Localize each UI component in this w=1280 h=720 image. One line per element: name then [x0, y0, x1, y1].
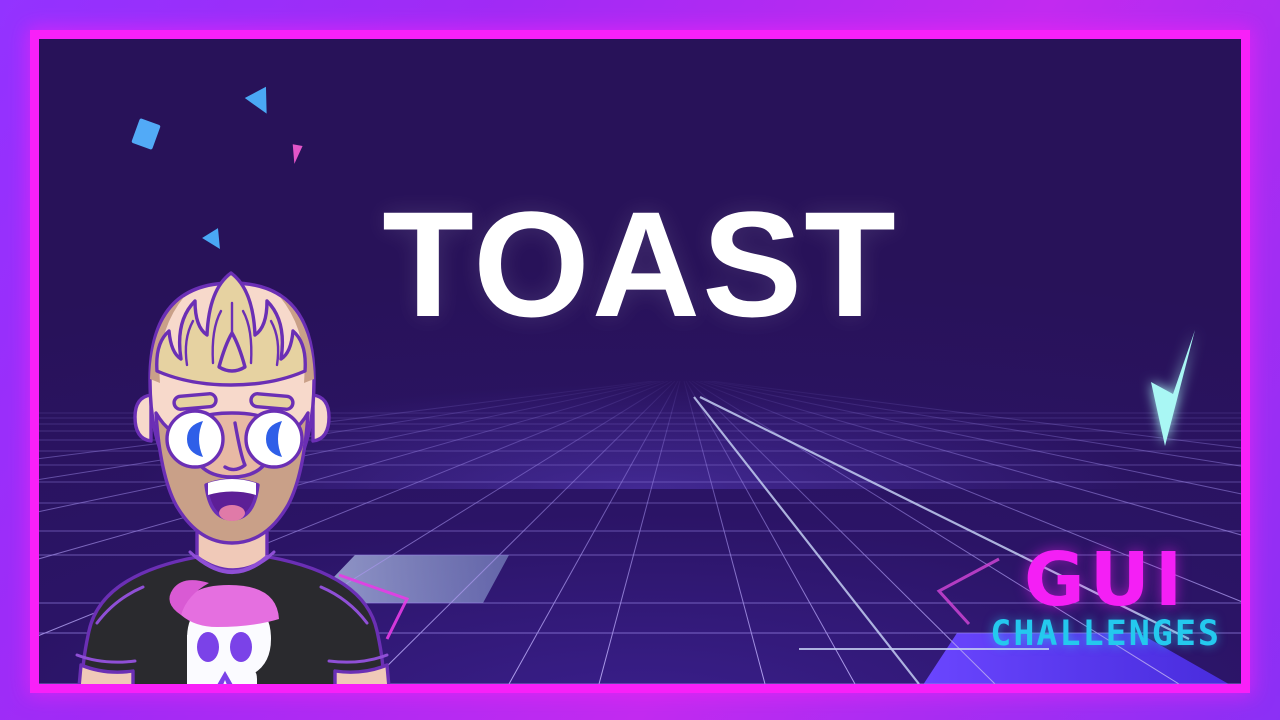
avatar-tongue: [219, 505, 245, 521]
brand-gui-text: GUI: [990, 546, 1221, 614]
skull-eye-right: [230, 632, 252, 662]
avatar-eyebrow-right: [250, 393, 293, 410]
avatar-ear-left: [135, 395, 151, 441]
scene: TOAST GUI CHALLENGES: [39, 39, 1241, 684]
avatar-eyebrow-left: [174, 393, 217, 410]
thumbnail-root: TOAST GUI CHALLENGES: [0, 0, 1280, 720]
neon-frame: TOAST GUI CHALLENGES: [30, 30, 1250, 693]
avatar: [69, 267, 399, 684]
brand-lockup: GUI CHALLENGES: [990, 546, 1221, 652]
cyan-shard-icon: [1139, 324, 1219, 454]
brand-challenges-text: CHALLENGES: [990, 617, 1221, 652]
skull-eye-left: [197, 632, 219, 662]
avatar-ear-right: [313, 395, 329, 441]
